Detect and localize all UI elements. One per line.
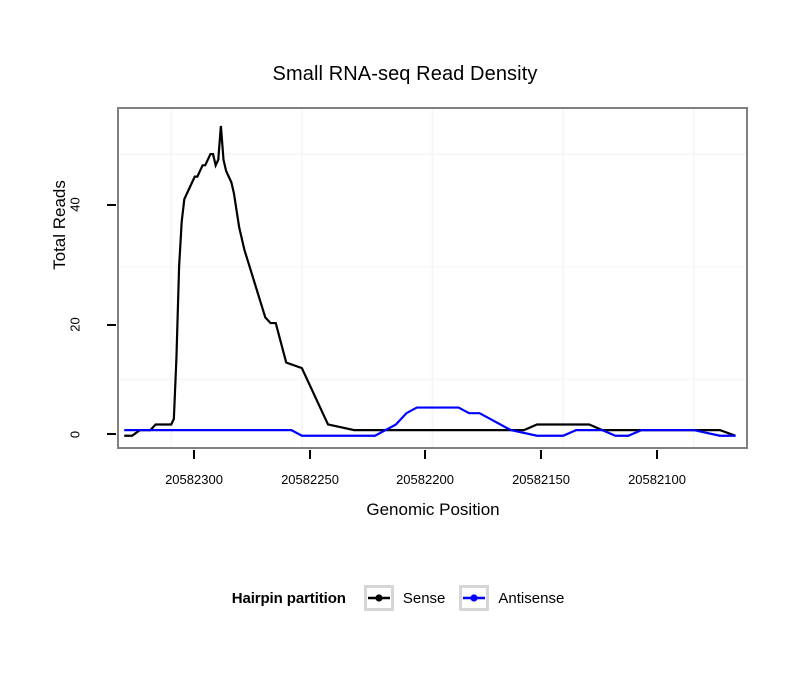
legend-key-sense-icon: [364, 585, 394, 611]
x-tick-label-0: 20582300: [134, 472, 254, 487]
x-axis-label: Genomic Position: [117, 500, 749, 520]
x-tick-label-2: 20582200: [365, 472, 485, 487]
y-tick-label-40: 40: [68, 185, 83, 225]
y-tick-label-0: 0: [68, 415, 83, 455]
y-tick-mark-20: [107, 324, 116, 326]
legend-entry-antisense[interactable]: Antisense: [459, 585, 564, 611]
legend-label-antisense: Antisense: [498, 590, 564, 607]
series-line-antisense: [124, 408, 735, 436]
legend-title: Hairpin partition: [232, 590, 346, 607]
chart-figure: Small RNA-seq Read Density Total Reads 4…: [0, 0, 810, 690]
x-tick-mark-4: [656, 450, 658, 459]
legend-key-antisense-icon: [459, 585, 489, 611]
plot-area: [119, 109, 746, 447]
x-tick-mark-0: [193, 450, 195, 459]
y-tick-mark-40: [107, 204, 116, 206]
plot-panel: [117, 107, 748, 449]
series-line-sense: [124, 126, 735, 436]
legend-label-sense: Sense: [403, 590, 446, 607]
x-tick-mark-2: [424, 450, 426, 459]
x-tick-label-4: 20582100: [597, 472, 717, 487]
x-tick-mark-1: [309, 450, 311, 459]
chart-legend: Hairpin partition Sense Antisense: [0, 585, 810, 611]
y-tick-label-20: 20: [68, 305, 83, 345]
x-tick-mark-3: [540, 450, 542, 459]
data-series-group: [124, 126, 735, 436]
legend-entry-sense[interactable]: Sense: [364, 585, 446, 611]
y-axis-label: Total Reads: [50, 115, 70, 335]
chart-title: Small RNA-seq Read Density: [0, 63, 810, 86]
x-tick-label-3: 20582150: [481, 472, 601, 487]
gridlines: [119, 109, 746, 447]
y-tick-mark-0: [107, 433, 116, 435]
x-tick-label-1: 20582250: [250, 472, 370, 487]
